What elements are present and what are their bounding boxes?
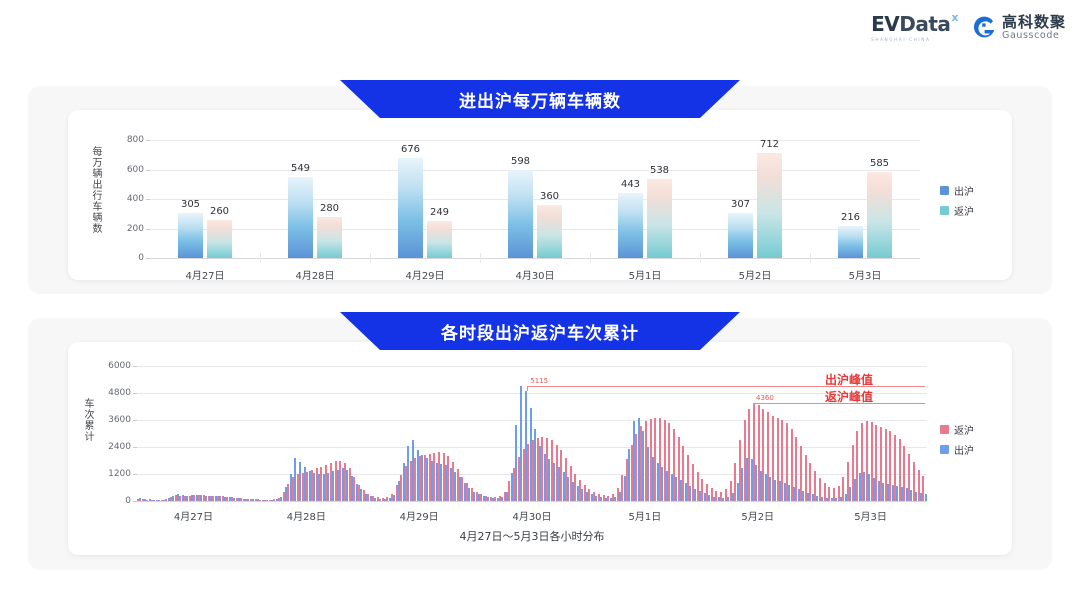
chart-2-bar — [283, 492, 285, 501]
chart-2-bar — [476, 492, 478, 501]
chart-1-ytick-mark-600 — [146, 170, 150, 171]
chart-1-xsep-1 — [260, 253, 261, 263]
chart-2-bar — [828, 487, 830, 501]
chart-2-bar — [805, 455, 807, 501]
chart-2-bar — [161, 500, 163, 501]
chart-2-xtick-5月3日: 5月3日 — [826, 508, 916, 523]
chart-2-xtick-4月30日: 4月30日 — [487, 508, 577, 523]
gausscode-en-name: Gausscode — [1002, 31, 1066, 41]
chart-1-xsep-2 — [370, 253, 371, 263]
chart-2-bar — [885, 429, 887, 501]
legend-label-出沪: 出沪 — [954, 442, 974, 457]
chart-1-value-返沪-4月28日: 280 — [305, 203, 354, 214]
chart-2-bar — [203, 495, 205, 501]
chart-2-bar — [570, 466, 572, 501]
chart-2-bar — [325, 465, 327, 501]
chart-1-bar-出沪-5月3日 — [838, 226, 863, 258]
chart-2-bar — [377, 497, 379, 501]
chart-2-ytick-3600: 3600 — [95, 415, 131, 425]
chart-2-bar — [250, 499, 252, 501]
chart-2-xtick-5月2日: 5月2日 — [713, 508, 803, 523]
chart-2-ytick-mark-4800 — [133, 393, 137, 394]
chart-2-bar — [518, 457, 520, 501]
chart-1-value-返沪-5月2日: 712 — [745, 139, 794, 150]
chart-2-bar — [391, 494, 393, 501]
chart-2-bar — [725, 489, 727, 501]
chart-2-bar — [748, 409, 750, 501]
chart-1-bar-返沪-4月30日 — [537, 205, 562, 258]
chart-1-xsep-3 — [480, 253, 481, 263]
chart-1-value-出沪-4月28日: 549 — [276, 163, 325, 174]
chart-2-bar — [311, 470, 313, 501]
chart-2-xtick-4月28日: 4月28日 — [261, 508, 351, 523]
chart-2-bar — [222, 496, 224, 501]
chart-2-bar — [706, 484, 708, 501]
chart-2-bar — [650, 419, 652, 501]
legend-label-返沪: 返沪 — [954, 422, 974, 437]
gausscode-text: 高科数聚 Gausscode — [1002, 15, 1066, 41]
chart-2-bar — [433, 453, 435, 501]
chart-2-bar — [142, 499, 144, 501]
chart-2-bar — [781, 420, 783, 501]
chart-2-bar — [231, 497, 233, 501]
chart-2-bar — [146, 500, 148, 501]
chart-2-bar — [715, 491, 717, 501]
chart-2-bar — [217, 496, 219, 501]
chart-2-y-axis-title: 车次累计 — [80, 398, 95, 468]
chart-2-bar — [461, 477, 463, 501]
chart-2-bar — [607, 496, 609, 501]
chart-1-bar-返沪-5月1日 — [647, 179, 672, 258]
chart-1-bar-返沪-4月27日 — [207, 220, 232, 258]
legend-swatch-出沪 — [940, 445, 949, 454]
chart-2-bar — [819, 478, 821, 501]
chart-2-gridline-4800 — [137, 393, 927, 394]
chart-2-bar — [866, 421, 868, 501]
chart-2-bar — [856, 431, 858, 501]
chart-2-bar — [471, 488, 473, 501]
chart-2-gridline-3600 — [137, 420, 927, 421]
chart-1-bar-返沪-4月28日 — [317, 217, 342, 258]
chart-2-bar — [791, 429, 793, 501]
chart-2-bar — [588, 489, 590, 501]
chart-2-bar — [668, 423, 670, 501]
chart-2-bar — [292, 477, 294, 501]
chart-2-bar — [137, 499, 139, 501]
return-peak-label: 返沪峰值 — [825, 388, 873, 405]
panel-1-banner: 进出沪每万辆车辆数 — [340, 80, 740, 118]
chart-2-bar — [654, 418, 656, 501]
chart-2-bar — [429, 454, 431, 501]
chart-2-bar — [156, 500, 158, 501]
chart-2-bar — [814, 471, 816, 501]
chart-2-bar — [730, 481, 732, 501]
chart-2-bar — [494, 497, 496, 501]
panel-2-title: 各时段出沪返沪车次累计 — [441, 319, 639, 344]
chart-1-bar-出沪-4月30日 — [508, 170, 533, 258]
chart-1-xsep-6 — [810, 253, 811, 263]
chart-2-bar — [443, 453, 445, 501]
chart-2-bar — [513, 468, 515, 501]
chart-2-bar — [179, 496, 181, 501]
chart-2-bar — [584, 485, 586, 501]
chart-2-bar — [358, 485, 360, 501]
chart-2-bar — [556, 445, 558, 501]
chart-1-ytick-mark-400 — [146, 199, 150, 200]
chart-2-bar — [753, 403, 755, 501]
chart-2-bar — [335, 461, 337, 501]
chart-2-ytick-2400: 2400 — [95, 442, 131, 452]
chart-2-bar — [208, 496, 210, 501]
legend-item-出沪: 出沪 — [940, 442, 974, 457]
evdata-wordmark: EVDatax — [871, 14, 958, 34]
chart-1-ytick-mark-200 — [146, 229, 150, 230]
legend-label-返沪: 返沪 — [954, 203, 974, 218]
chart-2-bar — [824, 483, 826, 501]
chart-2-bar — [861, 423, 863, 501]
evdata-superscript-icon: x — [951, 12, 958, 23]
chart-2-bar — [574, 474, 576, 501]
chart-2-bar — [711, 488, 713, 501]
chart-2-bar — [330, 463, 332, 501]
chart-2-bar — [400, 475, 402, 501]
chart-2-ytick-mark-1200 — [133, 474, 137, 475]
chart-2-bar — [744, 420, 746, 501]
chart-2-bar — [908, 454, 910, 501]
chart-2-xtick-4月27日: 4月27日 — [148, 508, 238, 523]
chart-2-bar — [537, 438, 539, 501]
legend-swatch-返沪 — [940, 206, 949, 215]
chart-1-xtick-4月27日: 4月27日 — [160, 267, 250, 282]
chart-2-bar — [320, 467, 322, 501]
chart-2-bar — [621, 475, 623, 501]
chart-1-value-出沪-4月30日: 598 — [496, 156, 545, 167]
chart-1-ytick-600: 600 — [110, 165, 144, 175]
chart-2-bar — [386, 497, 388, 501]
chart-2-ytick-6000: 6000 — [95, 361, 131, 371]
chart-2-bar — [777, 418, 779, 501]
chart-2-bar — [405, 466, 407, 501]
chart-2-bar — [772, 416, 774, 502]
chart-2-bar — [372, 496, 374, 501]
gausscode-mark-icon — [972, 16, 996, 40]
chart-1-ytick-0: 0 — [110, 253, 144, 263]
chart-2-bar — [226, 497, 228, 502]
evdata-subtitle: SHANGHAI CHINA — [871, 37, 930, 42]
chart-1-bar-出沪-4月27日 — [178, 213, 203, 258]
chart-2-bar — [875, 425, 877, 502]
chart-2-bar — [151, 500, 153, 501]
chart-1-xtick-5月3日: 5月3日 — [820, 267, 910, 282]
chart-1-xtick-4月30日: 4月30日 — [490, 267, 580, 282]
chart-2-bar — [212, 496, 214, 501]
chart-2-bar — [499, 496, 501, 501]
chart-2-bar — [264, 500, 266, 501]
evdata-word-a: EV — [871, 14, 899, 34]
chart-1-gridline-600 — [150, 170, 920, 171]
panel-2-banner: 各时段出沪返沪车次累计 — [340, 312, 740, 350]
chart-2-bar — [184, 496, 186, 501]
chart-2-bar — [339, 461, 341, 502]
chart-2-legend: 返沪出沪 — [940, 422, 974, 457]
departure-peak-label: 出沪峰值 — [825, 371, 873, 388]
gausscode-logo: 高科数聚 Gausscode — [972, 15, 1066, 41]
chart-2-bar — [889, 431, 891, 501]
chart-2-bar — [198, 495, 200, 501]
chart-2-bar — [687, 455, 689, 501]
chart-1-xtick-5月2日: 5月2日 — [710, 267, 800, 282]
logo-group: EVDatax SHANGHAI CHINA 高科数聚 Gausscode — [871, 14, 1066, 42]
chart-2-bar — [925, 494, 927, 501]
chart-2-bar — [617, 488, 619, 501]
chart-2-bar — [842, 477, 844, 501]
chart-1-value-返沪-5月3日: 585 — [855, 158, 904, 169]
chart-2-bar — [918, 470, 920, 502]
gausscode-cn-name: 高科数聚 — [1002, 15, 1066, 31]
chart-2-bar — [645, 421, 647, 501]
chart-1-gridline-0 — [150, 258, 920, 259]
panel-1-title: 进出沪每万辆车辆数 — [459, 87, 621, 112]
chart-2-bar — [720, 492, 722, 501]
page-header: EVDatax SHANGHAI CHINA 高科数聚 Gausscode — [0, 0, 1080, 62]
chart-2-bar — [382, 498, 384, 501]
chart-2-bar — [287, 484, 289, 501]
chart-2-bar — [922, 476, 924, 501]
chart-2-bar — [466, 483, 468, 501]
chart-2-bar — [447, 456, 449, 501]
chart-1-y-axis-title: 每万辆出行车辆数 — [88, 146, 103, 254]
chart-2-xtick-5月1日: 5月1日 — [600, 508, 690, 523]
legend-item-出沪: 出沪 — [940, 183, 974, 198]
chart-2-bar — [682, 446, 684, 501]
chart-2-bar — [438, 452, 440, 501]
chart-2-bar — [165, 499, 167, 501]
chart-1-bar-返沪-5月3日 — [867, 172, 892, 258]
chart-2-bar — [269, 500, 271, 501]
chart-2-bar — [396, 485, 398, 501]
legend-item-返沪: 返沪 — [940, 422, 974, 437]
chart-2-bar — [302, 473, 304, 501]
chart-2-gridline-6000 — [137, 366, 927, 367]
chart-2-bar — [903, 446, 905, 501]
chart-2-bar — [273, 499, 275, 501]
chart-2-bar — [490, 497, 492, 501]
chart-2-bar — [367, 494, 369, 501]
chart-1-bar-返沪-5月2日 — [757, 153, 782, 258]
chart-2-ytick-1200: 1200 — [95, 469, 131, 479]
chart-2-bar — [739, 440, 741, 501]
chart-1-gridline-800 — [150, 140, 920, 141]
chart-2-bar — [410, 461, 412, 502]
chart-2-bar — [306, 472, 308, 501]
chart-2-bar — [762, 409, 764, 501]
legend-item-返沪: 返沪 — [940, 203, 974, 218]
departure-peak-value: 5115 — [530, 377, 548, 385]
chart-2-bar — [316, 468, 318, 501]
chart-2-bar — [278, 498, 280, 501]
return-peak-stem — [753, 403, 754, 408]
chart-1-value-返沪-5月1日: 538 — [635, 165, 684, 176]
chart-2-bar — [344, 463, 346, 501]
chart-2-bar — [259, 500, 261, 501]
chart-2-bar — [565, 458, 567, 501]
chart-2-bar — [673, 429, 675, 501]
chart-2-bar — [809, 463, 811, 501]
chart-1-bar-出沪-5月2日 — [728, 213, 753, 258]
chart-2-bar — [838, 486, 840, 501]
chart-1-bar-出沪-5月1日 — [618, 193, 643, 258]
chart-1-ytick-mark-0 — [146, 258, 150, 259]
chart-2-bar — [692, 464, 694, 501]
chart-2-bar — [800, 446, 802, 501]
chart-2-bar — [560, 450, 562, 501]
chart-1-bar-出沪-4月28日 — [288, 177, 313, 258]
chart-2-bar — [508, 481, 510, 501]
chart-2-bar — [871, 422, 873, 501]
chart-2-bar — [546, 438, 548, 501]
chart-2-bar — [734, 463, 736, 501]
chart-1-xtick-4月28日: 4月28日 — [270, 267, 360, 282]
chart-1-value-返沪-4月30日: 360 — [525, 191, 574, 202]
chart-2-ytick-mark-6000 — [133, 366, 137, 367]
chart-2-bar — [579, 480, 581, 501]
chart-2-bar — [255, 499, 257, 501]
chart-1-xtick-4月29日: 4月29日 — [380, 267, 470, 282]
chart-2-bar — [414, 458, 416, 501]
chart-2-bar — [852, 445, 854, 501]
chart-2-x-axis-title: 4月27日～5月3日各小时分布 — [87, 528, 977, 544]
chart-2-bar — [664, 420, 666, 501]
chart-1-xsep-5 — [700, 253, 701, 263]
chart-2-bar — [880, 427, 882, 501]
chart-2-bar — [504, 492, 506, 501]
chart-2-bar — [193, 495, 195, 501]
chart-2-bar — [457, 469, 459, 501]
chart-2-bar — [419, 456, 421, 501]
chart-2-bar — [532, 440, 534, 501]
chart-1-ytick-mark-800 — [146, 140, 150, 141]
chart-2-bar — [485, 496, 487, 501]
chart-2-bar — [598, 494, 600, 501]
chart-2-bar — [240, 498, 242, 501]
chart-2-bar — [593, 492, 595, 501]
legend-swatch-出沪 — [940, 186, 949, 195]
legend-label-出沪: 出沪 — [954, 183, 974, 198]
chart-2-bar — [170, 497, 172, 502]
chart-2-bar — [786, 423, 788, 501]
chart-1-ytick-400: 400 — [110, 194, 144, 204]
chart-2-bar — [697, 472, 699, 501]
chart-2-bar — [894, 435, 896, 501]
legend-swatch-返沪 — [940, 425, 949, 434]
chart-2-bar — [678, 437, 680, 501]
chart-2-bar — [913, 462, 915, 501]
chart-2-bar — [640, 426, 642, 501]
chart-2-bar — [612, 494, 614, 501]
chart-2-xtick-4月29日: 4月29日 — [374, 508, 464, 523]
chart-2-bar — [189, 496, 191, 501]
chart-2-bar — [631, 445, 633, 501]
chart-2-bar — [635, 434, 637, 502]
chart-2-bar — [603, 495, 605, 501]
chart-2-bar — [767, 412, 769, 501]
chart-2-ytick-mark-0 — [133, 501, 137, 502]
departure-peak-stem — [527, 386, 528, 391]
chart-2-bar — [701, 479, 703, 502]
chart-1-legend: 出沪返沪 — [940, 183, 974, 218]
chart-1-ytick-200: 200 — [110, 224, 144, 234]
chart-2-ytick-mark-2400 — [133, 447, 137, 448]
evdata-logo: EVDatax SHANGHAI CHINA — [871, 14, 958, 42]
chart-1-value-返沪-4月29日: 249 — [415, 207, 464, 218]
chart-2-bar — [175, 495, 177, 501]
chart-2-bar — [847, 462, 849, 501]
chart-2-bar — [523, 449, 525, 501]
chart-1-bar-返沪-4月29日 — [427, 221, 452, 258]
chart-2-bar — [480, 494, 482, 501]
chart-1-xsep-4 — [590, 253, 591, 263]
chart-2-bar — [353, 477, 355, 501]
chart-1-gridline-200 — [150, 229, 920, 230]
chart-2-bar — [363, 490, 365, 501]
chart-1-xtick-5月1日: 5月1日 — [600, 267, 690, 282]
chart-2-bar — [349, 468, 351, 501]
chart-2-ytick-0: 0 — [95, 496, 131, 506]
chart-2-bar — [795, 437, 797, 501]
chart-2-bar — [541, 437, 543, 501]
chart-2-bar — [899, 439, 901, 501]
chart-2-bar — [452, 462, 454, 501]
evdata-word-b: Data — [899, 14, 950, 34]
chart-1-value-返沪-4月27日: 260 — [195, 206, 244, 217]
chart-2-bar — [551, 440, 553, 501]
chart-2-bar — [659, 418, 661, 501]
chart-2-bar — [626, 459, 628, 501]
chart-2-bar — [833, 488, 835, 501]
chart-2-bar — [236, 498, 238, 501]
return-peak-value: 4360 — [756, 394, 774, 402]
chart-2-gridline-0 — [137, 501, 927, 502]
chart-2-ytick-mark-3600 — [133, 420, 137, 421]
chart-2-bar — [297, 474, 299, 501]
chart-2-bar — [424, 455, 426, 501]
chart-2-bar — [245, 499, 247, 501]
chart-1-ytick-800: 800 — [110, 135, 144, 145]
chart-1-value-出沪-4月29日: 676 — [386, 144, 435, 155]
chart-2-bar — [527, 444, 529, 501]
chart-2-bar — [758, 405, 760, 501]
chart-2-ytick-4800: 4800 — [95, 388, 131, 398]
